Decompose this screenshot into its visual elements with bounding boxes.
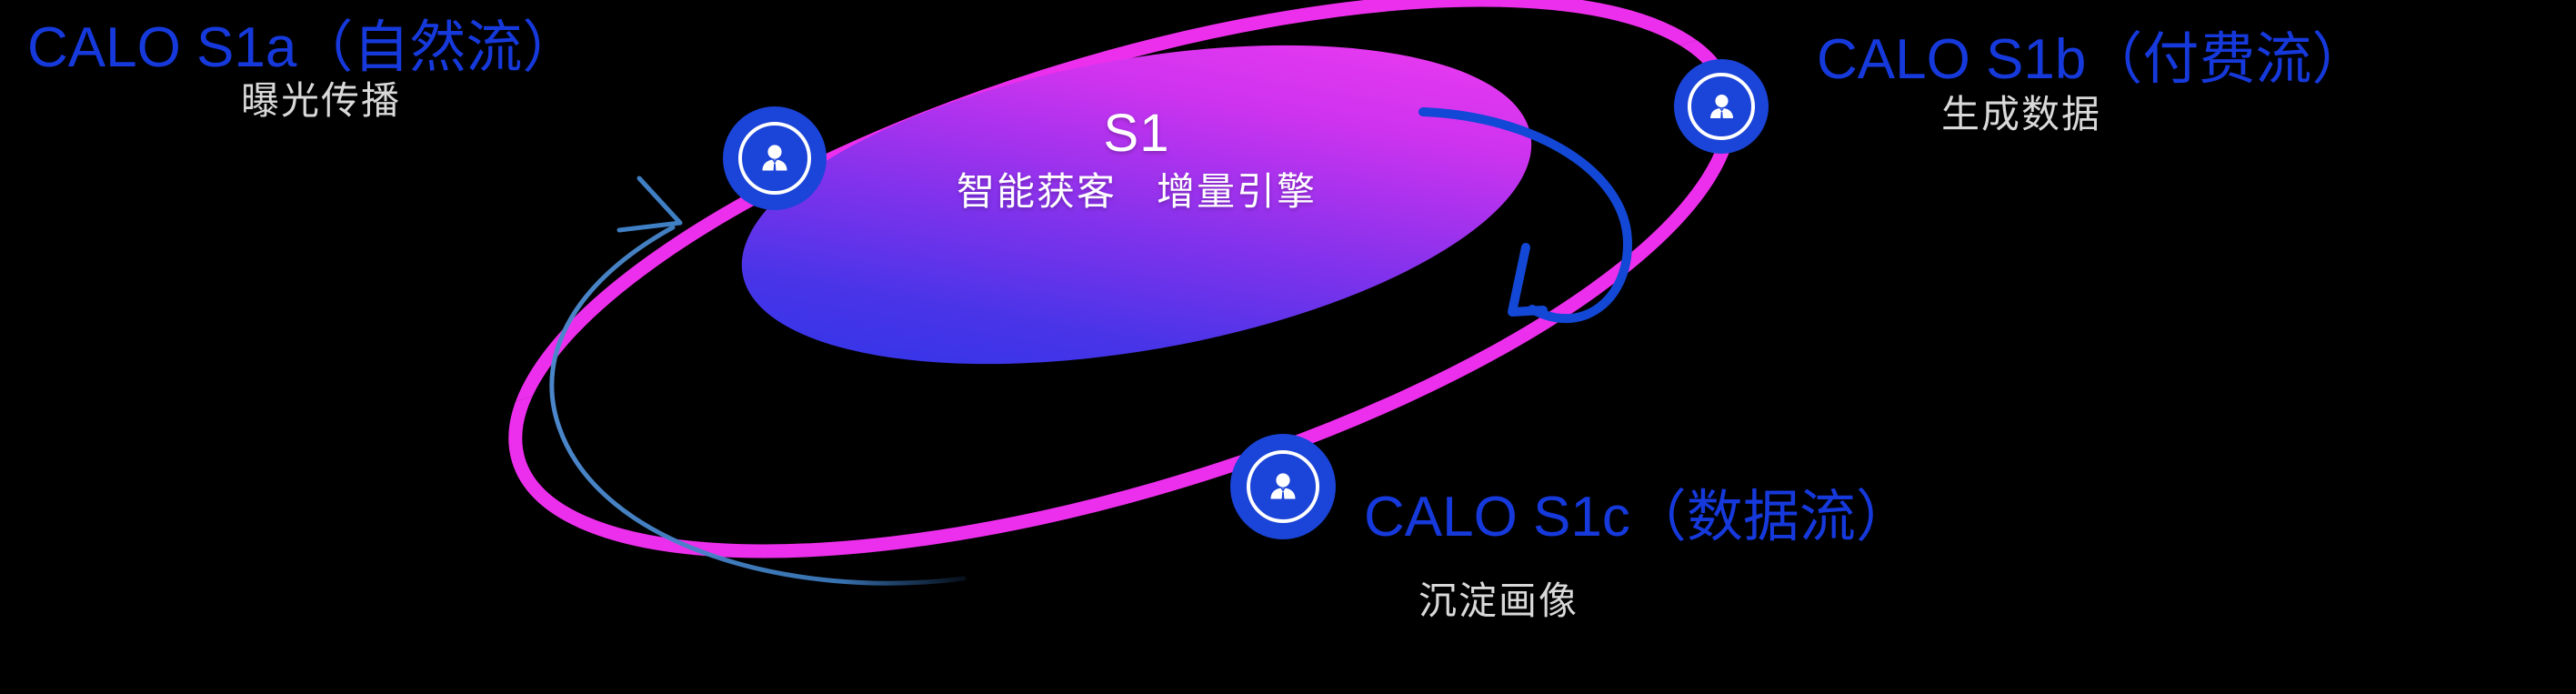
- node-s1b[interactable]: [1674, 59, 1769, 154]
- core-ellipse: [717, 0, 1556, 417]
- flow-subtitle-s1b: 生成数据: [1941, 96, 2101, 134]
- flow-title-s1c: CALO S1c（数据流）: [1364, 489, 1912, 546]
- node-s1a[interactable]: [723, 106, 827, 210]
- flow-subtitle-s1a: 曝光传播: [241, 82, 401, 120]
- flow-subtitle-s1c: 沉淀画像: [1418, 582, 1579, 620]
- person-icon: [1705, 90, 1739, 124]
- diagram-canvas: S1 智能获客 增量引擎 CALO S1a（自然流）: [0, 0, 2576, 694]
- flow-title-s1b: CALO S1b（付费流）: [1817, 32, 2368, 88]
- person-icon: [757, 140, 793, 176]
- flow-title-s1a: CALO S1a（自然流）: [27, 20, 578, 76]
- node-s1c[interactable]: [1230, 434, 1336, 539]
- person-icon: [1265, 468, 1301, 505]
